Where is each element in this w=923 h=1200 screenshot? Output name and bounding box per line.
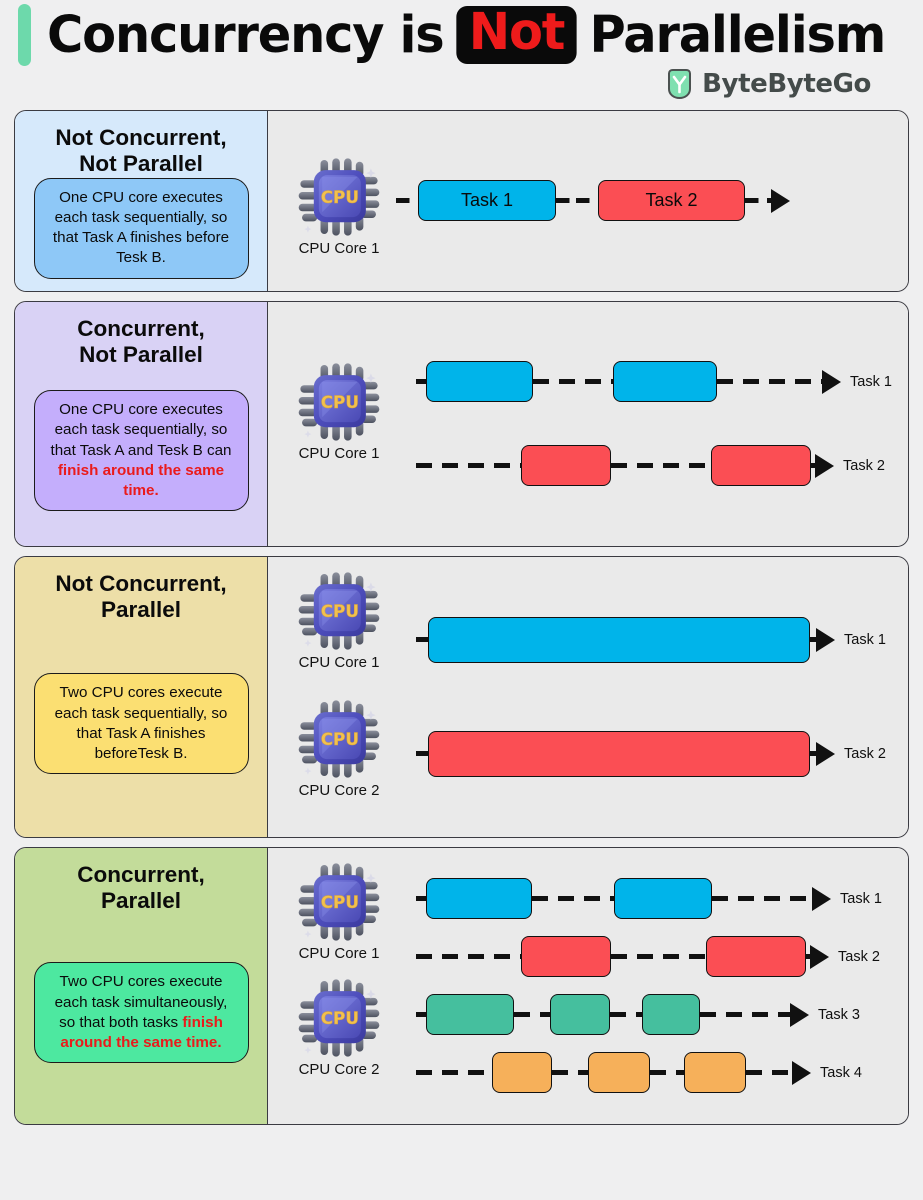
task-block bbox=[521, 445, 611, 486]
panel-diagram-4: Task 1Task 2Task 3Task 4CPUCPU Core 1CPU… bbox=[268, 848, 908, 1124]
task-row-label: Task 2 bbox=[843, 458, 885, 474]
timeline-arrow-icon bbox=[812, 887, 831, 911]
callout-text: One CPU core executes each task sequenti… bbox=[51, 401, 232, 458]
task-block bbox=[426, 994, 514, 1035]
timeline-row: Task 2 bbox=[416, 928, 908, 986]
svg-text:CPU: CPU bbox=[321, 600, 359, 620]
panel-callout: Two CPU cores execute each task simultan… bbox=[34, 962, 249, 1063]
timeline-gap bbox=[416, 954, 521, 959]
timeline-row: Task 1 bbox=[416, 870, 908, 928]
infographic-page: Concurrency is Not Parallelism ByteByteG… bbox=[0, 0, 923, 1200]
task-block bbox=[684, 1052, 746, 1093]
task-block bbox=[492, 1052, 552, 1093]
timeline-row: Task 2 bbox=[416, 697, 908, 811]
task-row-label: Task 4 bbox=[820, 1065, 862, 1081]
timeline-gap bbox=[650, 1070, 684, 1075]
timeline-row: Task 1 bbox=[416, 340, 908, 424]
cpu-core-label: CPU Core 2 bbox=[299, 782, 380, 799]
timeline-gap bbox=[416, 379, 426, 384]
panel-left-2: Concurrent, Not ParallelOne CPU core exe… bbox=[15, 302, 268, 546]
panel-heading: Concurrent, Parallel bbox=[77, 862, 205, 915]
title-row: Concurrency is Not Parallelism bbox=[14, 0, 909, 66]
svg-text:CPU: CPU bbox=[321, 891, 359, 911]
timeline-gap bbox=[717, 379, 822, 384]
task-row-label: Task 1 bbox=[850, 374, 892, 390]
panel-3: Not Concurrent, ParallelTwo CPU cores ex… bbox=[14, 556, 909, 838]
panel-4: Concurrent, ParallelTwo CPU cores execut… bbox=[14, 847, 909, 1125]
task-row-label: Task 2 bbox=[844, 746, 886, 762]
timeline-gap bbox=[532, 896, 614, 901]
page-title: Concurrency is Not Parallelism bbox=[47, 6, 885, 65]
task-block: Task 2 bbox=[598, 180, 745, 221]
task-row-label: Task 2 bbox=[838, 949, 880, 965]
timeline-row: Task 2 bbox=[416, 424, 908, 508]
cpu-core-label: CPU Core 1 bbox=[299, 240, 380, 257]
panel-callout: One CPU core executes each task sequenti… bbox=[34, 390, 249, 511]
task-block: Task 1 bbox=[418, 180, 556, 221]
header: Concurrency is Not Parallelism ByteByteG… bbox=[0, 0, 923, 110]
cpu-core-label: CPU Core 1 bbox=[299, 945, 380, 962]
timeline-arrow-icon bbox=[810, 945, 829, 969]
timeline-arrow-icon bbox=[816, 742, 835, 766]
cpu-core-2: CPUCPU Core 2 bbox=[280, 976, 398, 1078]
task-block bbox=[550, 994, 610, 1035]
timeline-gap bbox=[745, 198, 771, 203]
task-block bbox=[521, 936, 611, 977]
task-block bbox=[642, 994, 700, 1035]
cpu-core-label: CPU Core 1 bbox=[299, 654, 380, 671]
callout-text: One CPU core executes each task sequenti… bbox=[53, 189, 229, 267]
title-not-chip: Not bbox=[456, 6, 577, 63]
timeline-track bbox=[416, 1044, 811, 1102]
timeline-track bbox=[416, 986, 809, 1044]
timeline-gap bbox=[700, 1012, 790, 1017]
timeline-track bbox=[416, 870, 831, 928]
cpu-core-label: CPU Core 1 bbox=[299, 445, 380, 462]
timeline-gap bbox=[416, 1012, 426, 1017]
timeline-gap bbox=[746, 1070, 792, 1075]
task-block bbox=[706, 936, 806, 977]
svg-text:CPU: CPU bbox=[321, 728, 359, 748]
timeline-gap bbox=[611, 954, 706, 959]
cpu-core-1: CPUCPU Core 1 bbox=[280, 569, 398, 671]
task-block bbox=[428, 731, 810, 777]
panel-heading: Not Concurrent, Not Parallel bbox=[55, 125, 226, 178]
cpu-core-1: CPUCPU Core 1 bbox=[280, 860, 398, 962]
svg-text:CPU: CPU bbox=[321, 391, 359, 411]
brand-name: ByteByteGo bbox=[702, 69, 871, 99]
svg-text:CPU: CPU bbox=[321, 1007, 359, 1027]
timeline-track bbox=[416, 583, 835, 697]
timeline-gap bbox=[712, 896, 812, 901]
panel-left-3: Not Concurrent, ParallelTwo CPU cores ex… bbox=[15, 557, 268, 837]
timeline-gap bbox=[514, 1012, 550, 1017]
panel-diagram-3: Task 1Task 2CPUCPU Core 1CPUCPU Core 2 bbox=[268, 557, 908, 837]
timeline-arrow-icon bbox=[771, 189, 790, 213]
timeline-row: Task 4 bbox=[416, 1044, 908, 1102]
timeline-arrow-icon bbox=[816, 628, 835, 652]
timeline-track bbox=[416, 697, 835, 811]
cpu-core-1: CPUCPU Core 1 bbox=[280, 155, 398, 257]
callout-text: Two CPU cores execute each task sequenti… bbox=[55, 684, 228, 762]
panel-left-1: Not Concurrent, Not ParallelOne CPU core… bbox=[15, 111, 268, 291]
bytebytego-logo-icon bbox=[666, 69, 693, 99]
timeline-gap bbox=[556, 198, 576, 203]
title-part-2: Parallelism bbox=[590, 6, 886, 65]
task-block bbox=[588, 1052, 650, 1093]
cpu-core-label: CPU Core 2 bbox=[299, 1061, 380, 1078]
task-block bbox=[428, 617, 810, 663]
cpu-core-2: CPUCPU Core 2 bbox=[280, 697, 398, 799]
timeline-gap bbox=[416, 896, 426, 901]
timeline-gap bbox=[416, 751, 428, 756]
callout-highlight: finish around the same time. bbox=[58, 462, 224, 499]
panel-list: Not Concurrent, Not ParallelOne CPU core… bbox=[0, 110, 923, 1125]
accent-bar bbox=[18, 4, 31, 66]
timeline-arrow-icon bbox=[815, 454, 834, 478]
brand: ByteByteGo bbox=[14, 69, 909, 99]
task-block bbox=[613, 361, 717, 402]
task-row-label: Task 1 bbox=[844, 632, 886, 648]
panel-diagram-2: Task 1Task 2CPUCPU Core 1 bbox=[268, 302, 908, 546]
timeline-gap bbox=[396, 198, 418, 203]
task-block bbox=[426, 878, 532, 919]
cpu-core-1: CPUCPU Core 1 bbox=[280, 360, 398, 462]
task-block bbox=[614, 878, 712, 919]
task-row-label: Task 3 bbox=[818, 1007, 860, 1023]
timeline-gap bbox=[416, 637, 428, 642]
timeline-row: Task 1 bbox=[416, 583, 908, 697]
timeline-gap bbox=[416, 463, 521, 468]
task-row-label: Task 1 bbox=[840, 891, 882, 907]
task-block bbox=[711, 445, 811, 486]
panel-left-4: Concurrent, ParallelTwo CPU cores execut… bbox=[15, 848, 268, 1124]
timeline-track bbox=[416, 928, 829, 986]
timeline-track: Task 1Task 2 bbox=[396, 174, 790, 228]
timeline-arrow-icon bbox=[790, 1003, 809, 1027]
timeline-gap bbox=[611, 463, 711, 468]
panel-callout: Two CPU cores execute each task sequenti… bbox=[34, 673, 249, 774]
panel-1: Not Concurrent, Not ParallelOne CPU core… bbox=[14, 110, 909, 292]
timeline-gap bbox=[533, 379, 613, 384]
title-part-1: Concurrency is bbox=[47, 6, 444, 65]
timeline-arrow-icon bbox=[822, 370, 841, 394]
panel-2: Concurrent, Not ParallelOne CPU core exe… bbox=[14, 301, 909, 547]
timeline-track bbox=[416, 340, 841, 424]
timeline-arrow-icon bbox=[792, 1061, 811, 1085]
task-block bbox=[426, 361, 533, 402]
svg-text:CPU: CPU bbox=[321, 187, 359, 207]
timeline-track bbox=[416, 424, 834, 508]
timeline-gap bbox=[416, 1070, 492, 1075]
panel-callout: One CPU core executes each task sequenti… bbox=[34, 178, 249, 279]
timeline-row: Task 3 bbox=[416, 986, 908, 1044]
timeline-gap bbox=[552, 1070, 588, 1075]
timeline-gap bbox=[610, 1012, 642, 1017]
timeline-gap bbox=[576, 198, 598, 203]
panel-heading: Not Concurrent, Parallel bbox=[55, 571, 226, 624]
panel-diagram-1: Task 1Task 2CPUCPU Core 1 bbox=[268, 111, 908, 291]
panel-heading: Concurrent, Not Parallel bbox=[77, 316, 205, 369]
